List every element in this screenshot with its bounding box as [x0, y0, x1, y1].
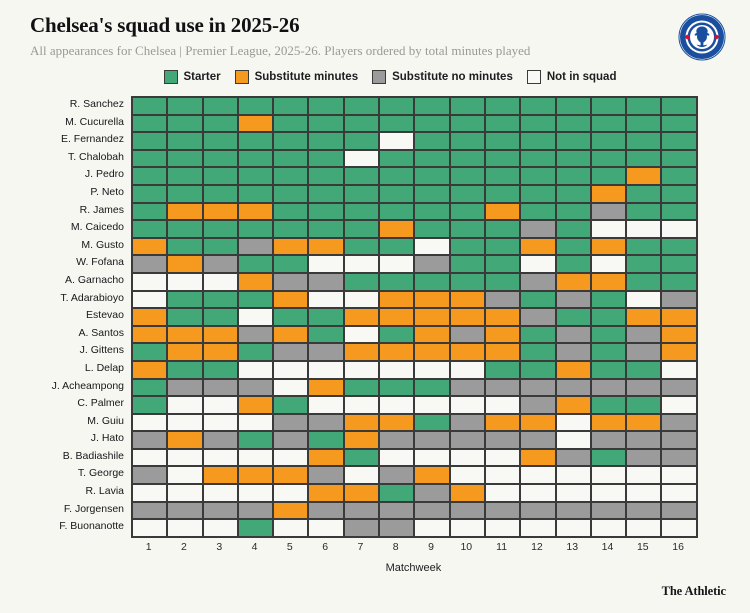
heatmap-cell — [627, 450, 662, 468]
heatmap-cell — [557, 450, 592, 468]
player-name-label: E. Fernandez — [0, 131, 124, 149]
chelsea-crest-icon — [678, 13, 726, 61]
heatmap-cell — [345, 116, 380, 134]
heatmap-cell — [168, 450, 203, 468]
heatmap-cell — [345, 309, 380, 327]
heatmap-cell — [486, 344, 521, 362]
heatmap-cell — [345, 520, 380, 538]
heatmap-cell — [451, 292, 486, 310]
chart-page: Chelsea's squad use in 2025-26 All appea… — [0, 0, 750, 613]
heatmap-cell — [557, 503, 592, 521]
heatmap-cell — [380, 168, 415, 186]
heatmap-cell — [592, 432, 627, 450]
heatmap-cell — [627, 520, 662, 538]
heatmap-cell — [239, 415, 274, 433]
heatmap-cell — [204, 503, 239, 521]
heatmap-cell — [239, 485, 274, 503]
heatmap-cell — [662, 485, 697, 503]
heatmap-cell — [204, 309, 239, 327]
heatmap-cell — [521, 397, 556, 415]
heatmap-cell — [521, 309, 556, 327]
heatmap-cell — [345, 467, 380, 485]
heatmap-cell — [521, 274, 556, 292]
heatmap-cell — [204, 168, 239, 186]
heatmap-cell — [521, 151, 556, 169]
heatmap-cell — [133, 344, 168, 362]
heatmap-cell — [168, 239, 203, 257]
heatmap-cell — [662, 133, 697, 151]
chart-header: Chelsea's squad use in 2025-26 All appea… — [0, 0, 750, 84]
matchweek-tick: 11 — [484, 541, 519, 553]
heatmap-cell — [592, 256, 627, 274]
heatmap-cell — [309, 450, 344, 468]
heatmap-cell — [345, 415, 380, 433]
heatmap-cell — [309, 98, 344, 116]
heatmap-cell — [662, 432, 697, 450]
heatmap-cell — [521, 133, 556, 151]
heatmap-cell — [486, 292, 521, 310]
heatmap-cell — [380, 520, 415, 538]
legend-swatch-starter-icon — [164, 70, 178, 84]
legend-swatch-substitute-no-minutes-icon — [372, 70, 386, 84]
legend-label-substitute-minutes: Substitute minutes — [255, 71, 359, 83]
heatmap-cell — [168, 221, 203, 239]
heatmap-cell — [627, 98, 662, 116]
heatmap-cell — [662, 256, 697, 274]
heatmap-cell — [380, 151, 415, 169]
heatmap-cell — [309, 415, 344, 433]
legend: Starter Substitute minutes Substitute no… — [30, 70, 750, 84]
heatmap-cell — [204, 415, 239, 433]
heatmap-cell — [662, 98, 697, 116]
heatmap-cell — [415, 309, 450, 327]
heatmap-cell — [557, 380, 592, 398]
heatmap-cell — [662, 221, 697, 239]
heatmap-cell — [239, 116, 274, 134]
heatmap-cell — [627, 256, 662, 274]
heatmap-cell — [662, 168, 697, 186]
matchweek-tick: 14 — [590, 541, 625, 553]
heatmap-cell — [274, 503, 309, 521]
heatmap-cell — [168, 415, 203, 433]
heatmap-cell — [592, 98, 627, 116]
heatmap-cell — [345, 485, 380, 503]
heatmap-cell — [662, 186, 697, 204]
legend-label-substitute-no-minutes: Substitute no minutes — [392, 71, 513, 83]
heatmap-cell — [239, 98, 274, 116]
heatmap-cell — [345, 186, 380, 204]
heatmap-cell — [627, 186, 662, 204]
matchweek-tick: 7 — [343, 541, 378, 553]
heatmap-cell — [133, 186, 168, 204]
heatmap-cell — [592, 292, 627, 310]
heatmap-cell — [380, 256, 415, 274]
heatmap-cell — [662, 151, 697, 169]
heatmap-cell — [486, 221, 521, 239]
heatmap-cell — [345, 362, 380, 380]
heatmap-cell — [274, 520, 309, 538]
heatmap-cell — [451, 274, 486, 292]
heatmap-cell — [592, 186, 627, 204]
heatmap-cell — [345, 503, 380, 521]
heatmap-cell — [345, 168, 380, 186]
player-name-label: T. George — [0, 465, 124, 483]
heatmap-cell — [133, 116, 168, 134]
heatmap-cell — [133, 168, 168, 186]
legend-swatch-not-in-squad-icon — [527, 70, 541, 84]
heatmap-cell — [204, 485, 239, 503]
heatmap-cell — [274, 397, 309, 415]
heatmap-cell — [627, 327, 662, 345]
matchweek-tick: 5 — [272, 541, 307, 553]
heatmap-cell — [415, 467, 450, 485]
heatmap-cell — [239, 292, 274, 310]
player-name-label: M. Guiu — [0, 413, 124, 431]
heatmap-cell — [415, 485, 450, 503]
heatmap-cell — [274, 116, 309, 134]
heatmap-cell — [451, 415, 486, 433]
heatmap-cell — [274, 221, 309, 239]
heatmap-cell — [486, 520, 521, 538]
heatmap-cell — [309, 204, 344, 222]
heatmap-cell — [627, 344, 662, 362]
heatmap-cell — [486, 186, 521, 204]
heatmap-cell — [592, 274, 627, 292]
heatmap-cell — [592, 503, 627, 521]
heatmap-cell — [204, 327, 239, 345]
heatmap-cell — [521, 239, 556, 257]
heatmap-cell — [309, 116, 344, 134]
heatmap-cell — [204, 98, 239, 116]
heatmap-cell — [486, 467, 521, 485]
heatmap-cell — [380, 432, 415, 450]
heatmap-cell — [415, 415, 450, 433]
heatmap-cell — [204, 204, 239, 222]
heatmap-cell — [133, 98, 168, 116]
heatmap-cell — [274, 98, 309, 116]
heatmap-cell — [592, 397, 627, 415]
heatmap-cell — [239, 309, 274, 327]
heatmap-cell — [415, 397, 450, 415]
heatmap-cell — [204, 432, 239, 450]
heatmap-cell — [380, 485, 415, 503]
heatmap-cell — [521, 415, 556, 433]
heatmap-cell — [415, 98, 450, 116]
heatmap-cell — [274, 239, 309, 257]
heatmap-cell — [415, 432, 450, 450]
player-name-label: C. Palmer — [0, 395, 124, 413]
heatmap-cell — [168, 256, 203, 274]
player-name-label: J. Hato — [0, 430, 124, 448]
heatmap-cell — [133, 432, 168, 450]
heatmap-cell — [415, 186, 450, 204]
heatmap-cell — [557, 467, 592, 485]
heatmap-cell — [204, 116, 239, 134]
heatmap-cell — [168, 327, 203, 345]
heatmap-cell — [204, 274, 239, 292]
heatmap-cell — [486, 503, 521, 521]
heatmap-cell — [486, 432, 521, 450]
heatmap-cell — [592, 239, 627, 257]
heatmap-cell — [486, 133, 521, 151]
player-name-label: Estevao — [0, 307, 124, 325]
heatmap-cell — [521, 221, 556, 239]
heatmap-cell — [627, 309, 662, 327]
heatmap-cell — [486, 256, 521, 274]
matchweek-tick: 9 — [413, 541, 448, 553]
heatmap-cell — [486, 168, 521, 186]
heatmap-cell — [239, 204, 274, 222]
heatmap-cell — [557, 256, 592, 274]
player-name-label: M. Cucurella — [0, 114, 124, 132]
heatmap-cell — [627, 151, 662, 169]
heatmap-cell — [557, 221, 592, 239]
heatmap-cell — [521, 503, 556, 521]
heatmap-cell — [380, 204, 415, 222]
heatmap-cell — [239, 380, 274, 398]
heatmap-cell — [521, 344, 556, 362]
heatmap-cell — [133, 327, 168, 345]
heatmap-cell — [557, 98, 592, 116]
heatmap-cell — [557, 309, 592, 327]
matchweek-tick: 12 — [519, 541, 554, 553]
heatmap-cell — [345, 432, 380, 450]
heatmap-cell — [274, 362, 309, 380]
heatmap-cell — [451, 380, 486, 398]
heatmap-cell — [486, 450, 521, 468]
heatmap-cell — [309, 151, 344, 169]
heatmap-grid — [131, 96, 698, 538]
heatmap-cell — [486, 239, 521, 257]
heatmap-cell — [592, 221, 627, 239]
heatmap-cell — [345, 239, 380, 257]
matchweek-tick: 3 — [202, 541, 237, 553]
heatmap-cell — [486, 327, 521, 345]
heatmap-cell — [239, 344, 274, 362]
heatmap-cell — [627, 204, 662, 222]
heatmap-cell — [309, 520, 344, 538]
player-name-label: R. Sanchez — [0, 96, 124, 114]
heatmap-cell — [239, 168, 274, 186]
heatmap-cell — [168, 151, 203, 169]
heatmap-cell — [662, 397, 697, 415]
heatmap-cell — [380, 327, 415, 345]
heatmap-cell — [133, 362, 168, 380]
heatmap-cell — [592, 362, 627, 380]
heatmap-cell — [662, 292, 697, 310]
heatmap-cell — [415, 520, 450, 538]
heatmap-cell — [415, 362, 450, 380]
heatmap-cell — [309, 292, 344, 310]
heatmap-cell — [627, 397, 662, 415]
heatmap-cell — [415, 256, 450, 274]
heatmap-cell — [451, 309, 486, 327]
heatmap-cell — [309, 274, 344, 292]
heatmap-cell — [415, 151, 450, 169]
heatmap-cell — [486, 485, 521, 503]
heatmap-cell — [345, 292, 380, 310]
heatmap-cell — [274, 151, 309, 169]
heatmap-cell — [274, 204, 309, 222]
heatmap-cell — [557, 485, 592, 503]
heatmap-cell — [486, 151, 521, 169]
heatmap-cell — [168, 168, 203, 186]
heatmap-cell — [133, 151, 168, 169]
heatmap-cell — [239, 274, 274, 292]
heatmap-cell — [380, 116, 415, 134]
heatmap-cell — [521, 292, 556, 310]
heatmap-cell — [133, 309, 168, 327]
heatmap-cell — [415, 133, 450, 151]
heatmap-cell — [168, 309, 203, 327]
heatmap-cell — [380, 309, 415, 327]
heatmap-cell — [521, 256, 556, 274]
squad-use-heatmap: R. SanchezM. CucurellaE. FernandezT. Cha… — [0, 96, 750, 574]
heatmap-cell — [557, 204, 592, 222]
heatmap-cell — [133, 380, 168, 398]
heatmap-cell — [521, 380, 556, 398]
heatmap-cell — [415, 221, 450, 239]
heatmap-cell — [168, 133, 203, 151]
heatmap-cell — [380, 274, 415, 292]
heatmap-cell — [309, 362, 344, 380]
heatmap-cell — [521, 204, 556, 222]
matchweek-tick: 13 — [555, 541, 590, 553]
heatmap-cell — [592, 133, 627, 151]
heatmap-cell — [239, 503, 274, 521]
heatmap-cell — [662, 239, 697, 257]
player-name-label: W. Fofana — [0, 254, 124, 272]
heatmap-cell — [274, 380, 309, 398]
heatmap-cell — [662, 467, 697, 485]
heatmap-cell — [486, 204, 521, 222]
heatmap-cell — [521, 520, 556, 538]
heatmap-cell — [557, 168, 592, 186]
heatmap-cell — [662, 415, 697, 433]
heatmap-cell — [133, 503, 168, 521]
heatmap-cell — [521, 467, 556, 485]
legend-item-substitute-minutes: Substitute minutes — [235, 70, 359, 84]
heatmap-cell — [451, 520, 486, 538]
heatmap-cell — [380, 450, 415, 468]
heatmap-cell — [133, 467, 168, 485]
player-name-label: L. Delap — [0, 360, 124, 378]
heatmap-cell — [204, 221, 239, 239]
heatmap-cell — [204, 133, 239, 151]
heatmap-cell — [592, 450, 627, 468]
heatmap-cell — [415, 292, 450, 310]
heatmap-cell — [627, 274, 662, 292]
player-name-label: M. Caicedo — [0, 219, 124, 237]
heatmap-cell — [274, 485, 309, 503]
heatmap-cell — [239, 450, 274, 468]
heatmap-cell — [557, 432, 592, 450]
heatmap-cell — [451, 256, 486, 274]
heatmap-cell — [380, 362, 415, 380]
heatmap-cell — [274, 186, 309, 204]
heatmap-cell — [662, 380, 697, 398]
heatmap-cell — [380, 98, 415, 116]
heatmap-cell — [204, 397, 239, 415]
player-name-label: M. Gusto — [0, 237, 124, 255]
heatmap-cell — [239, 239, 274, 257]
heatmap-cell — [204, 239, 239, 257]
heatmap-cell — [168, 380, 203, 398]
heatmap-cell — [415, 327, 450, 345]
heatmap-cell — [168, 186, 203, 204]
legend-label-not-in-squad: Not in squad — [547, 71, 617, 83]
heatmap-cell — [415, 380, 450, 398]
heatmap-cell — [204, 450, 239, 468]
heatmap-cell — [274, 432, 309, 450]
matchweek-tick: 15 — [625, 541, 660, 553]
heatmap-cell — [451, 186, 486, 204]
heatmap-cell — [592, 327, 627, 345]
heatmap-cell — [627, 432, 662, 450]
heatmap-cell — [451, 151, 486, 169]
heatmap-cell — [486, 274, 521, 292]
heatmap-cell — [627, 380, 662, 398]
heatmap-cell — [309, 256, 344, 274]
heatmap-cell — [380, 397, 415, 415]
legend-label-starter: Starter — [184, 71, 221, 83]
legend-swatch-substitute-minutes-icon — [235, 70, 249, 84]
x-axis-label: Matchweek — [131, 562, 696, 574]
heatmap-cell — [380, 344, 415, 362]
heatmap-cell — [592, 204, 627, 222]
heatmap-cell — [274, 467, 309, 485]
player-name-label: T. Adarabioyo — [0, 290, 124, 308]
heatmap-cell — [662, 309, 697, 327]
player-name-label: J. Pedro — [0, 166, 124, 184]
heatmap-cell — [557, 344, 592, 362]
heatmap-cell — [380, 503, 415, 521]
heatmap-cell — [345, 380, 380, 398]
heatmap-cell — [557, 362, 592, 380]
heatmap-cell — [662, 520, 697, 538]
heatmap-cell — [204, 292, 239, 310]
heatmap-cell — [309, 432, 344, 450]
heatmap-cell — [345, 397, 380, 415]
legend-item-starter: Starter — [164, 70, 221, 84]
heatmap-cell — [521, 98, 556, 116]
heatmap-cell — [451, 432, 486, 450]
heatmap-cell — [309, 239, 344, 257]
matchweek-tick: 4 — [237, 541, 272, 553]
heatmap-cell — [451, 168, 486, 186]
player-name-label: A. Santos — [0, 325, 124, 343]
heatmap-cell — [627, 415, 662, 433]
heatmap-cell — [309, 380, 344, 398]
heatmap-cell — [557, 292, 592, 310]
heatmap-cell — [309, 503, 344, 521]
heatmap-cell — [133, 239, 168, 257]
heatmap-cell — [168, 204, 203, 222]
heatmap-cell — [309, 186, 344, 204]
heatmap-cell — [486, 397, 521, 415]
heatmap-cell — [274, 133, 309, 151]
heatmap-cell — [168, 362, 203, 380]
player-name-label: A. Garnacho — [0, 272, 124, 290]
heatmap-cell — [133, 397, 168, 415]
heatmap-cell — [168, 432, 203, 450]
heatmap-cell — [345, 450, 380, 468]
heatmap-cell — [380, 292, 415, 310]
player-name-label: B. Badiashile — [0, 448, 124, 466]
heatmap-cell — [451, 467, 486, 485]
legend-item-not-in-squad: Not in squad — [527, 70, 617, 84]
heatmap-cell — [627, 221, 662, 239]
